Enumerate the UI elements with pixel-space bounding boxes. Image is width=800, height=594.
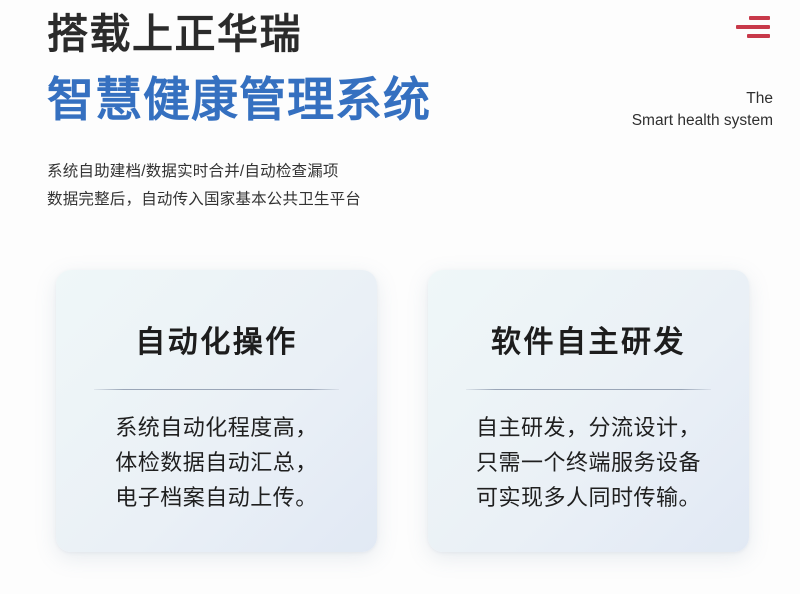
feature-card-automation: 自动化操作 系统自动化程度高， 体检数据自动汇总， 电子档案自动上传。 — [56, 270, 377, 552]
feature-card-divider — [94, 389, 339, 390]
english-tagline-line-2: Smart health system — [632, 110, 773, 132]
feature-card-body-line: 电子档案自动上传。 — [115, 481, 318, 516]
feature-card-title: 自动化操作 — [135, 317, 298, 361]
three-bars-icon-bar-top — [749, 16, 770, 20]
feature-card-title: 软件自主研发 — [491, 317, 686, 361]
three-bars-icon-bar-middle — [736, 25, 770, 29]
headline-main: 搭载上正华瑞 — [47, 12, 302, 57]
feature-card-body-line: 自主研发，分流设计， — [476, 411, 701, 446]
feature-card-body-line: 可实现多人同时传输。 — [476, 481, 701, 516]
subtitle-line-1: 系统自助建档/数据实时合并/自动检查漏项 — [47, 158, 361, 186]
feature-card-body-line: 系统自动化程度高， — [115, 411, 318, 446]
feature-card-rnd: 软件自主研发 自主研发，分流设计， 只需一个终端服务设备 可实现多人同时传输。 — [428, 270, 749, 552]
english-tagline-line-1: The — [632, 88, 773, 110]
feature-card-body: 自主研发，分流设计， 只需一个终端服务设备 可实现多人同时传输。 — [476, 411, 701, 515]
feature-card-body: 系统自动化程度高， 体检数据自动汇总， 电子档案自动上传。 — [115, 411, 318, 515]
feature-card-divider — [466, 389, 711, 390]
three-bars-icon — [736, 16, 770, 44]
promo-banner: 搭载上正华瑞 智慧健康管理系统 The Smart health system … — [0, 0, 800, 594]
headline-accent: 智慧健康管理系统 — [47, 74, 431, 127]
english-tagline: The Smart health system — [632, 88, 773, 132]
subtitle-line-2: 数据完整后，自动传入国家基本公共卫生平台 — [47, 186, 361, 214]
feature-card-body-line: 体检数据自动汇总， — [115, 446, 318, 481]
subtitle: 系统自助建档/数据实时合并/自动检查漏项 数据完整后，自动传入国家基本公共卫生平… — [47, 158, 361, 213]
feature-card-body-line: 只需一个终端服务设备 — [476, 446, 701, 481]
three-bars-icon-bar-bottom — [747, 34, 770, 38]
